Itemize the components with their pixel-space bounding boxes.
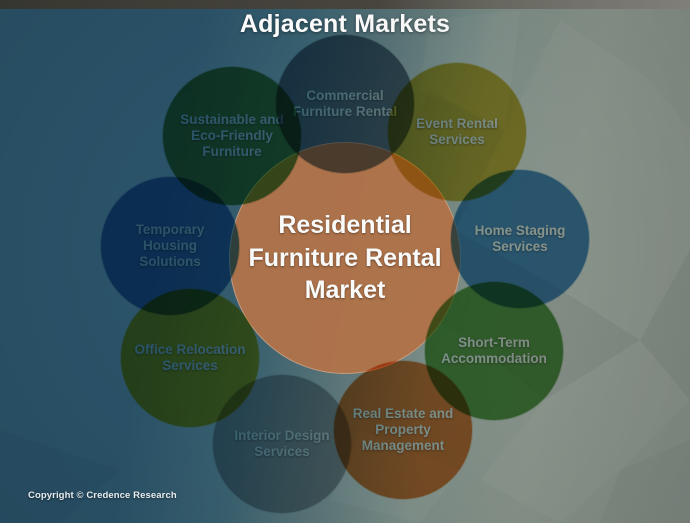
venn-circle-interior-design-services[interactable]: Interior Design Services — [212, 374, 352, 514]
venn-diagram: Sustainable and Eco-Friendly Furniture C… — [0, 0, 690, 523]
venn-circle-label: Temporary Housing Solutions — [111, 222, 230, 270]
venn-center-label: Residential Furniture Rental Market — [239, 209, 451, 307]
venn-circle-label: Interior Design Services — [223, 428, 342, 460]
venn-circle-label: Commercial Furniture Rental — [286, 88, 405, 120]
venn-circle-label: Sustainable and Eco-Friendly Furniture — [173, 112, 292, 160]
venn-circle-label: Event Rental Services — [398, 116, 517, 148]
venn-circle-label: Real Estate and Property Management — [344, 406, 463, 454]
venn-circle-real-estate-property-management[interactable]: Real Estate and Property Management — [333, 360, 473, 500]
venn-circle-label: Home Staging Services — [461, 223, 580, 255]
copyright-notice: Copyright © Credence Research — [28, 490, 177, 501]
venn-circle-label: Short-Term Accommodation — [435, 335, 554, 367]
slide-canvas: Adjacent Markets Sustainable and Eco-Fri… — [0, 0, 690, 523]
venn-circle-label: Office Relocation Services — [131, 342, 250, 374]
